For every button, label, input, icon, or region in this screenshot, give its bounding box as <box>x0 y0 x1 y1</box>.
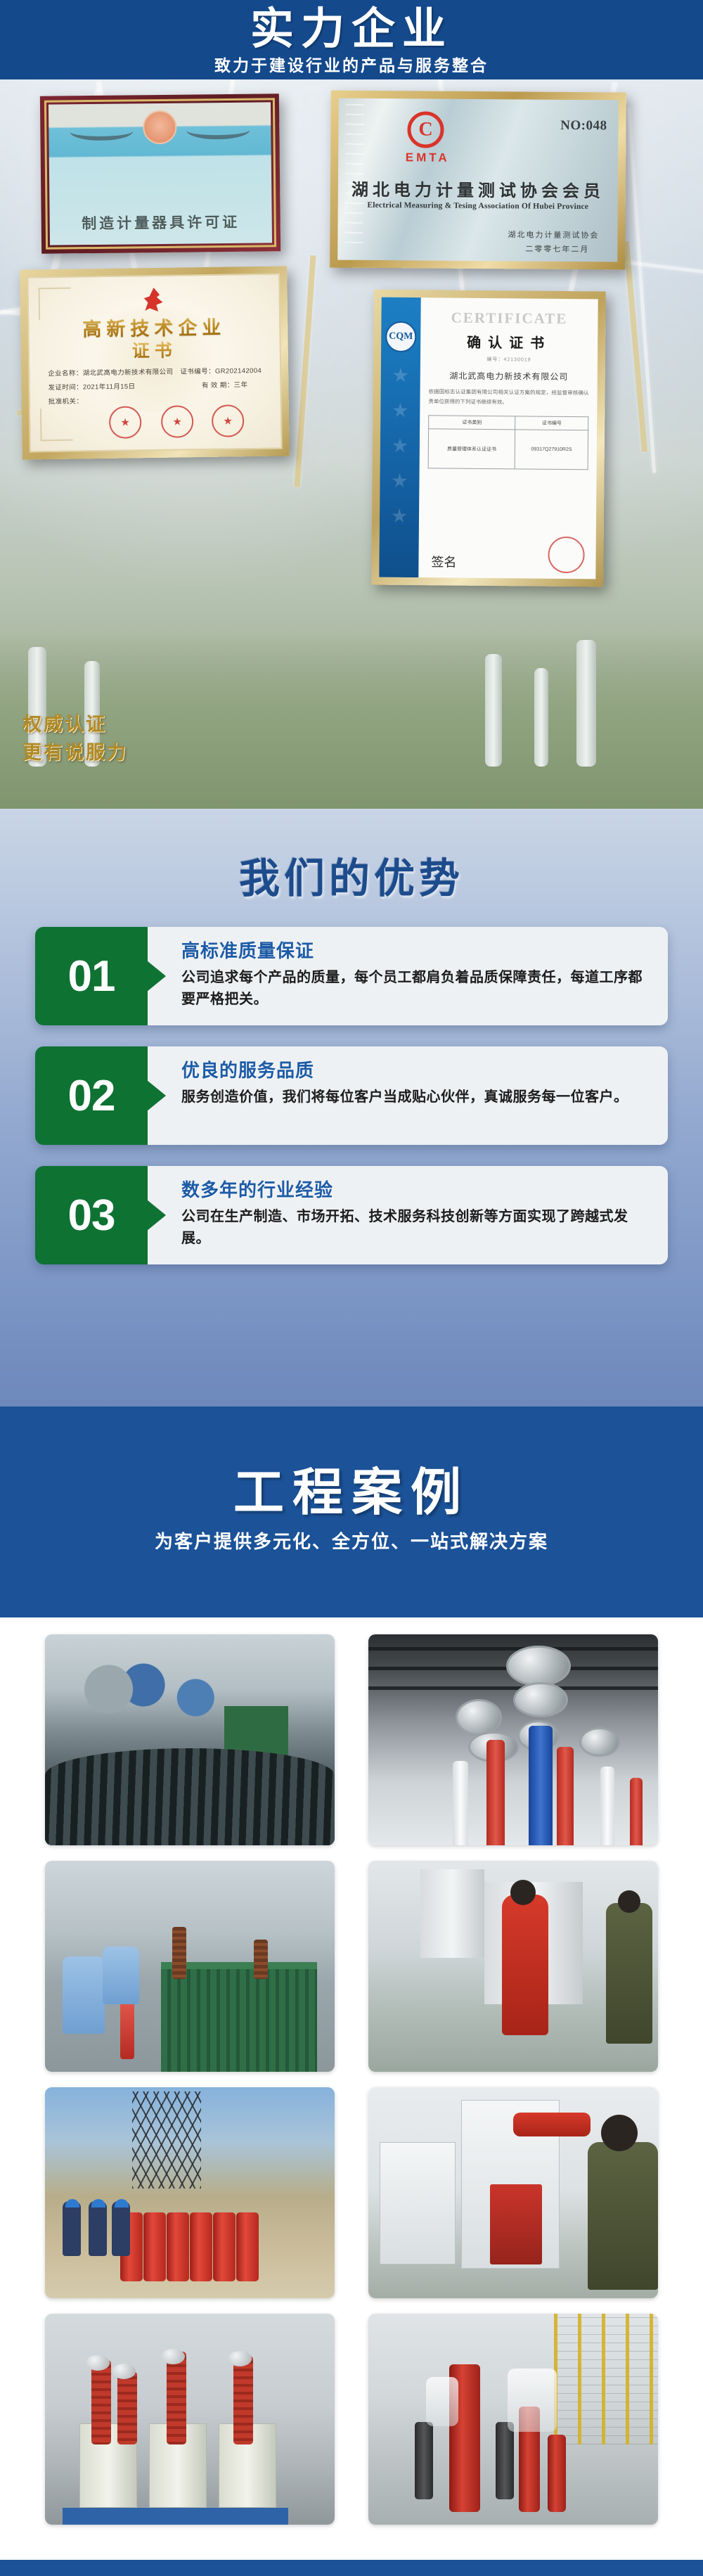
substation-pipe <box>534 668 548 767</box>
photo-image <box>368 2087 658 2298</box>
certificate-no-label: 证书编号： <box>180 368 215 376</box>
corona-ring <box>456 1699 502 1736</box>
technician-arm <box>513 2113 591 2136</box>
advantage-text: 公司在生产制造、市场开拓、技术服务科技创新等方面实现了跨越式发展。 <box>181 1206 654 1250</box>
advantage-card: 03 数多年的行业经验 公司在生产制造、市场开拓、技术服务科技创新等方面实现了跨… <box>35 1166 668 1264</box>
red-seal-icon: ★ <box>161 405 194 438</box>
approver-label: 批准机关： <box>49 395 84 406</box>
photo-image <box>45 2314 335 2525</box>
footer-bar <box>0 2560 703 2576</box>
emta-logo-text: EMTA <box>389 150 466 165</box>
advantage-text: 服务创造价值，我们将每位客户当成贴心伙伴，真诚服务每一位客户。 <box>181 1087 654 1108</box>
advantage-heading: 数多年的行业经验 <box>181 1176 654 1202</box>
technician-head <box>510 1880 536 1905</box>
table-header-cell: 证书编号 <box>515 416 588 430</box>
license-plate: 制造计量器具许可证 <box>49 102 272 245</box>
bushing <box>109 1760 124 1790</box>
certificates-section: 制造计量器具许可证 NO:048 C EMTA 湖北电力计量测试协会会员 Ele… <box>0 79 703 809</box>
star-icon <box>392 438 408 454</box>
field-worker <box>112 2201 130 2256</box>
cases-subtitle: 为客户提供多元化、全方位、一站式解决方案 <box>0 1527 703 1553</box>
advantage-content: 数多年的行业经验 公司在生产制造、市场开拓、技术服务科技创新等方面实现了跨越式发… <box>148 1166 668 1264</box>
red-seal-icon: ★ <box>212 404 245 437</box>
certificate-paper: 高新技术企业 证书 企业名称：湖北武高电力新技术有限公司 证书编号：GR2021… <box>27 273 282 452</box>
table-row: 质量管理体系认证证书 09317Q27910R2S <box>428 429 588 470</box>
blue-side-band: CQM <box>379 297 420 577</box>
advantage-card: 02 优良的服务品质 服务创造价值，我们将每位客户当成贴心伙伴，真诚服务每一位客… <box>35 1046 668 1145</box>
license-title: 制造计量器具许可证 <box>82 211 240 233</box>
star-icon <box>392 473 407 489</box>
photo-image <box>45 2087 335 2298</box>
banner-subtitle: 致力于建设行业的产品与服务整合 <box>0 53 703 77</box>
corona-ring <box>513 1682 568 1717</box>
safety-helmet-icon <box>65 2199 79 2207</box>
advantage-content: 高标准质量保证 公司追求每个产品的质量，每个员工都肩负着品质保障责任，每道工序都… <box>148 927 668 1025</box>
authority-slogan: 权威认证 更有说服力 <box>22 710 128 767</box>
bushing <box>254 1940 268 1979</box>
hv-bushing <box>167 2352 186 2444</box>
plaque-issuer: 湖北电力计量测试协会 <box>508 229 599 241</box>
certificate-manufacturing-license: 制造计量器具许可证 <box>40 94 280 254</box>
bushing <box>172 1927 186 1979</box>
advantage-card: 01 高标准质量保证 公司追求每个产品的质量，每个员工都肩负着品质保障责任，每道… <box>35 927 668 1025</box>
certificate-high-tech-enterprise: 高新技术企业 证书 企业名称：湖北武高电力新技术有限公司 证书编号：GR2021… <box>20 266 290 459</box>
roof-beam <box>368 1647 658 1651</box>
company-name-field: 企业名称：湖北武高电力新技术有限公司 <box>48 366 173 378</box>
test-column <box>557 1747 574 1845</box>
validity-value: 三年 <box>234 381 248 389</box>
photo-image <box>45 1634 335 1845</box>
star-icon <box>393 368 408 383</box>
table-header-cell: 证书类别 <box>429 416 516 430</box>
gallery-row <box>0 2314 703 2525</box>
photo-image <box>45 1861 335 2072</box>
case-photo-2[interactable] <box>368 1634 658 1845</box>
table-cell: 质量管理体系认证证书 <box>428 429 515 469</box>
safety-fence <box>554 2314 658 2444</box>
advantage-text: 公司追求每个产品的质量，每个员工都肩负着品质保障责任，每道工序都要严格把关。 <box>181 967 654 1011</box>
certificate-title-line2: 证书 <box>30 335 280 364</box>
banner-title: 实力企业 <box>0 0 703 53</box>
star-icon <box>392 508 407 524</box>
corona-cap <box>228 2351 252 2366</box>
dark-column <box>415 2422 433 2499</box>
certificate-title-cn: 确认证书 <box>429 331 589 352</box>
validity-label: 有 效 期： <box>202 381 234 390</box>
worker <box>103 1947 139 2004</box>
case-photo-8[interactable] <box>368 2314 658 2525</box>
certificate-body: CERTIFICATE 确认证书 编号：42130019 湖北武高电力新技术有限… <box>418 297 598 579</box>
authority-slogan-line2: 更有说服力 <box>22 738 128 767</box>
gallery-row <box>0 1634 703 1845</box>
bushing <box>132 1760 148 1790</box>
star-icon <box>392 403 408 418</box>
case-photo-3[interactable] <box>45 1861 335 2072</box>
certificate-paragraph: 依据国标志认证集团有限公司相关认证方案的规定，经监督审核确认贵单位获得的下列证书… <box>428 387 588 408</box>
case-photo-6[interactable] <box>368 2087 658 2298</box>
resonant-reactor <box>167 2212 189 2281</box>
certificate-no-field: 证书编号：GR202142004 <box>180 365 262 376</box>
test-lead-rod <box>120 2001 134 2059</box>
table-header-row: 证书类别 证书编号 <box>429 416 588 430</box>
national-emblem-icon <box>143 110 177 145</box>
substation-pipe <box>485 654 502 767</box>
advantages-section: 我们的优势 01 高标准质量保证 公司追求每个产品的质量，每个员工都肩负着品质保… <box>0 809 703 1406</box>
technician-head <box>601 2115 638 2151</box>
advantage-heading: 高标准质量保证 <box>181 937 654 963</box>
issue-date-label: 发证时间： <box>48 383 83 392</box>
technician-red-uniform <box>502 1895 548 2035</box>
field-worker <box>89 2201 107 2256</box>
photo-image <box>368 1861 658 2072</box>
authority-slogan-line1: 权威认证 <box>22 710 128 738</box>
field-worker <box>63 2201 81 2256</box>
hv-bushing <box>233 2356 253 2444</box>
corona-ring <box>506 1646 571 1686</box>
company-name-label: 企业名称： <box>48 369 83 378</box>
case-photo-5[interactable] <box>45 2087 335 2298</box>
hv-bushing <box>117 2371 137 2444</box>
certificate-serial: 编号：42130019 <box>429 355 589 364</box>
issue-date-value: 2021年11月15日 <box>83 383 136 391</box>
case-photo-1[interactable] <box>45 1634 335 1845</box>
advantage-number: 03 <box>35 1166 148 1264</box>
resonant-reactor <box>143 2212 166 2281</box>
pallet <box>63 2508 288 2525</box>
cases-header: 工程案例 为客户提供多元化、全方位、一站式解决方案 <box>0 1406 703 1617</box>
certificate-table: 证书类别 证书编号 质量管理体系认证证书 09317Q27910R2S <box>428 415 589 470</box>
advantage-number: 01 <box>35 927 148 1025</box>
cases-gallery <box>0 1617 703 2560</box>
substation-pipe <box>576 640 596 767</box>
corona-ring <box>579 1727 620 1757</box>
certificate-paper: CQM CERTIFICATE 确认证书 编号：42130019 湖北武高电力新… <box>379 297 598 579</box>
plaque-title-en: Electrical Measuring & Tesing Associatio… <box>338 201 618 212</box>
validity-field: 有 效 期：三年 <box>202 379 248 390</box>
reactor-column <box>548 2435 566 2512</box>
cqm-logo-icon: CQM <box>385 321 416 352</box>
certificate-cqm-confirmation: CQM CERTIFICATE 确认证书 编号：42130019 湖北武高电力新… <box>371 290 606 587</box>
table-cell: 09317Q27910R2S <box>515 430 588 470</box>
technician-olive-uniform <box>606 1903 652 2044</box>
company-name-value: 湖北武高电力新技术有限公司 <box>83 369 174 378</box>
wheat-sheaf-icon <box>70 122 133 141</box>
certificate-company: 湖北武高电力新技术有限公司 <box>429 369 589 383</box>
case-photo-4[interactable] <box>368 1861 658 2072</box>
advantages-title: 我们的优势 <box>0 809 703 904</box>
plaque-plate: NO:048 C EMTA 湖北电力计量测试协会会员 Electrical Me… <box>337 98 619 262</box>
resonant-reactor <box>236 2212 259 2281</box>
plaque-title-cn: 湖北电力计量测试协会会员 <box>338 176 618 203</box>
plaque-date: 二零零七年二月 <box>525 243 589 255</box>
red-seal-icon <box>548 537 584 573</box>
roof-beam <box>368 1686 658 1690</box>
certificate-number: NO:048 <box>560 118 607 134</box>
wheat-sheaf-icon <box>186 121 250 140</box>
relay-panel <box>490 2184 542 2264</box>
green-equipment <box>224 1706 288 1769</box>
safety-helmet-icon <box>91 2199 105 2207</box>
cabinet-door <box>380 2142 455 2264</box>
advantage-content: 优良的服务品质 服务创造价值，我们将每位客户当成贴心伙伴，真诚服务每一位客户。 <box>148 1046 668 1145</box>
photo-image <box>368 1634 658 1845</box>
plastic-wrap <box>508 2369 557 2432</box>
certificate-emta-membership: NO:048 C EMTA 湖北电力计量测试协会会员 Electrical Me… <box>330 91 626 270</box>
certificate-title-en: CERTIFICATE <box>429 309 589 328</box>
advantages-list: 01 高标准质量保证 公司追求每个产品的质量，每个员工都肩负着品质保障责任，每道… <box>0 927 703 1264</box>
plastic-wrap <box>426 2377 458 2426</box>
advantage-number: 02 <box>35 1046 148 1145</box>
gallery-row <box>0 1861 703 2072</box>
test-column <box>529 1726 553 1845</box>
hv-bushing <box>91 2360 111 2444</box>
gallery-row <box>0 2087 703 2298</box>
technician-olive-uniform <box>588 2142 658 2290</box>
photo-image <box>368 2314 658 2525</box>
test-column <box>600 1767 614 1845</box>
test-column <box>630 1778 643 1845</box>
page-banner: 实力企业 致力于建设行业的产品与服务整合 <box>0 0 703 79</box>
red-seal-icon: ★ <box>109 406 142 439</box>
equipment-cabinet <box>420 1869 484 1958</box>
signature: 签名 <box>431 552 456 570</box>
corona-cap <box>112 2364 136 2379</box>
test-column <box>486 1740 505 1845</box>
corona-cap <box>161 2349 185 2364</box>
case-photo-7[interactable] <box>45 2314 335 2525</box>
certificate-no-value: GR202142004 <box>215 367 262 376</box>
bushing <box>86 1760 101 1790</box>
resonant-reactor <box>190 2212 212 2281</box>
transmission-tower <box>132 2091 202 2189</box>
corner-ornament-icon <box>40 409 73 442</box>
safety-helmet-icon <box>115 2199 129 2207</box>
test-column <box>453 1761 468 1845</box>
dark-column <box>496 2422 514 2499</box>
issue-date-field: 发证时间：2021年11月15日 <box>48 380 135 392</box>
advantage-heading: 优良的服务品质 <box>181 1056 654 1082</box>
corona-cap <box>86 2355 110 2371</box>
worker <box>63 1956 105 2034</box>
resonant-reactor <box>213 2212 236 2281</box>
emta-logo-icon: C <box>407 111 444 148</box>
cases-title: 工程案例 <box>0 1406 703 1523</box>
